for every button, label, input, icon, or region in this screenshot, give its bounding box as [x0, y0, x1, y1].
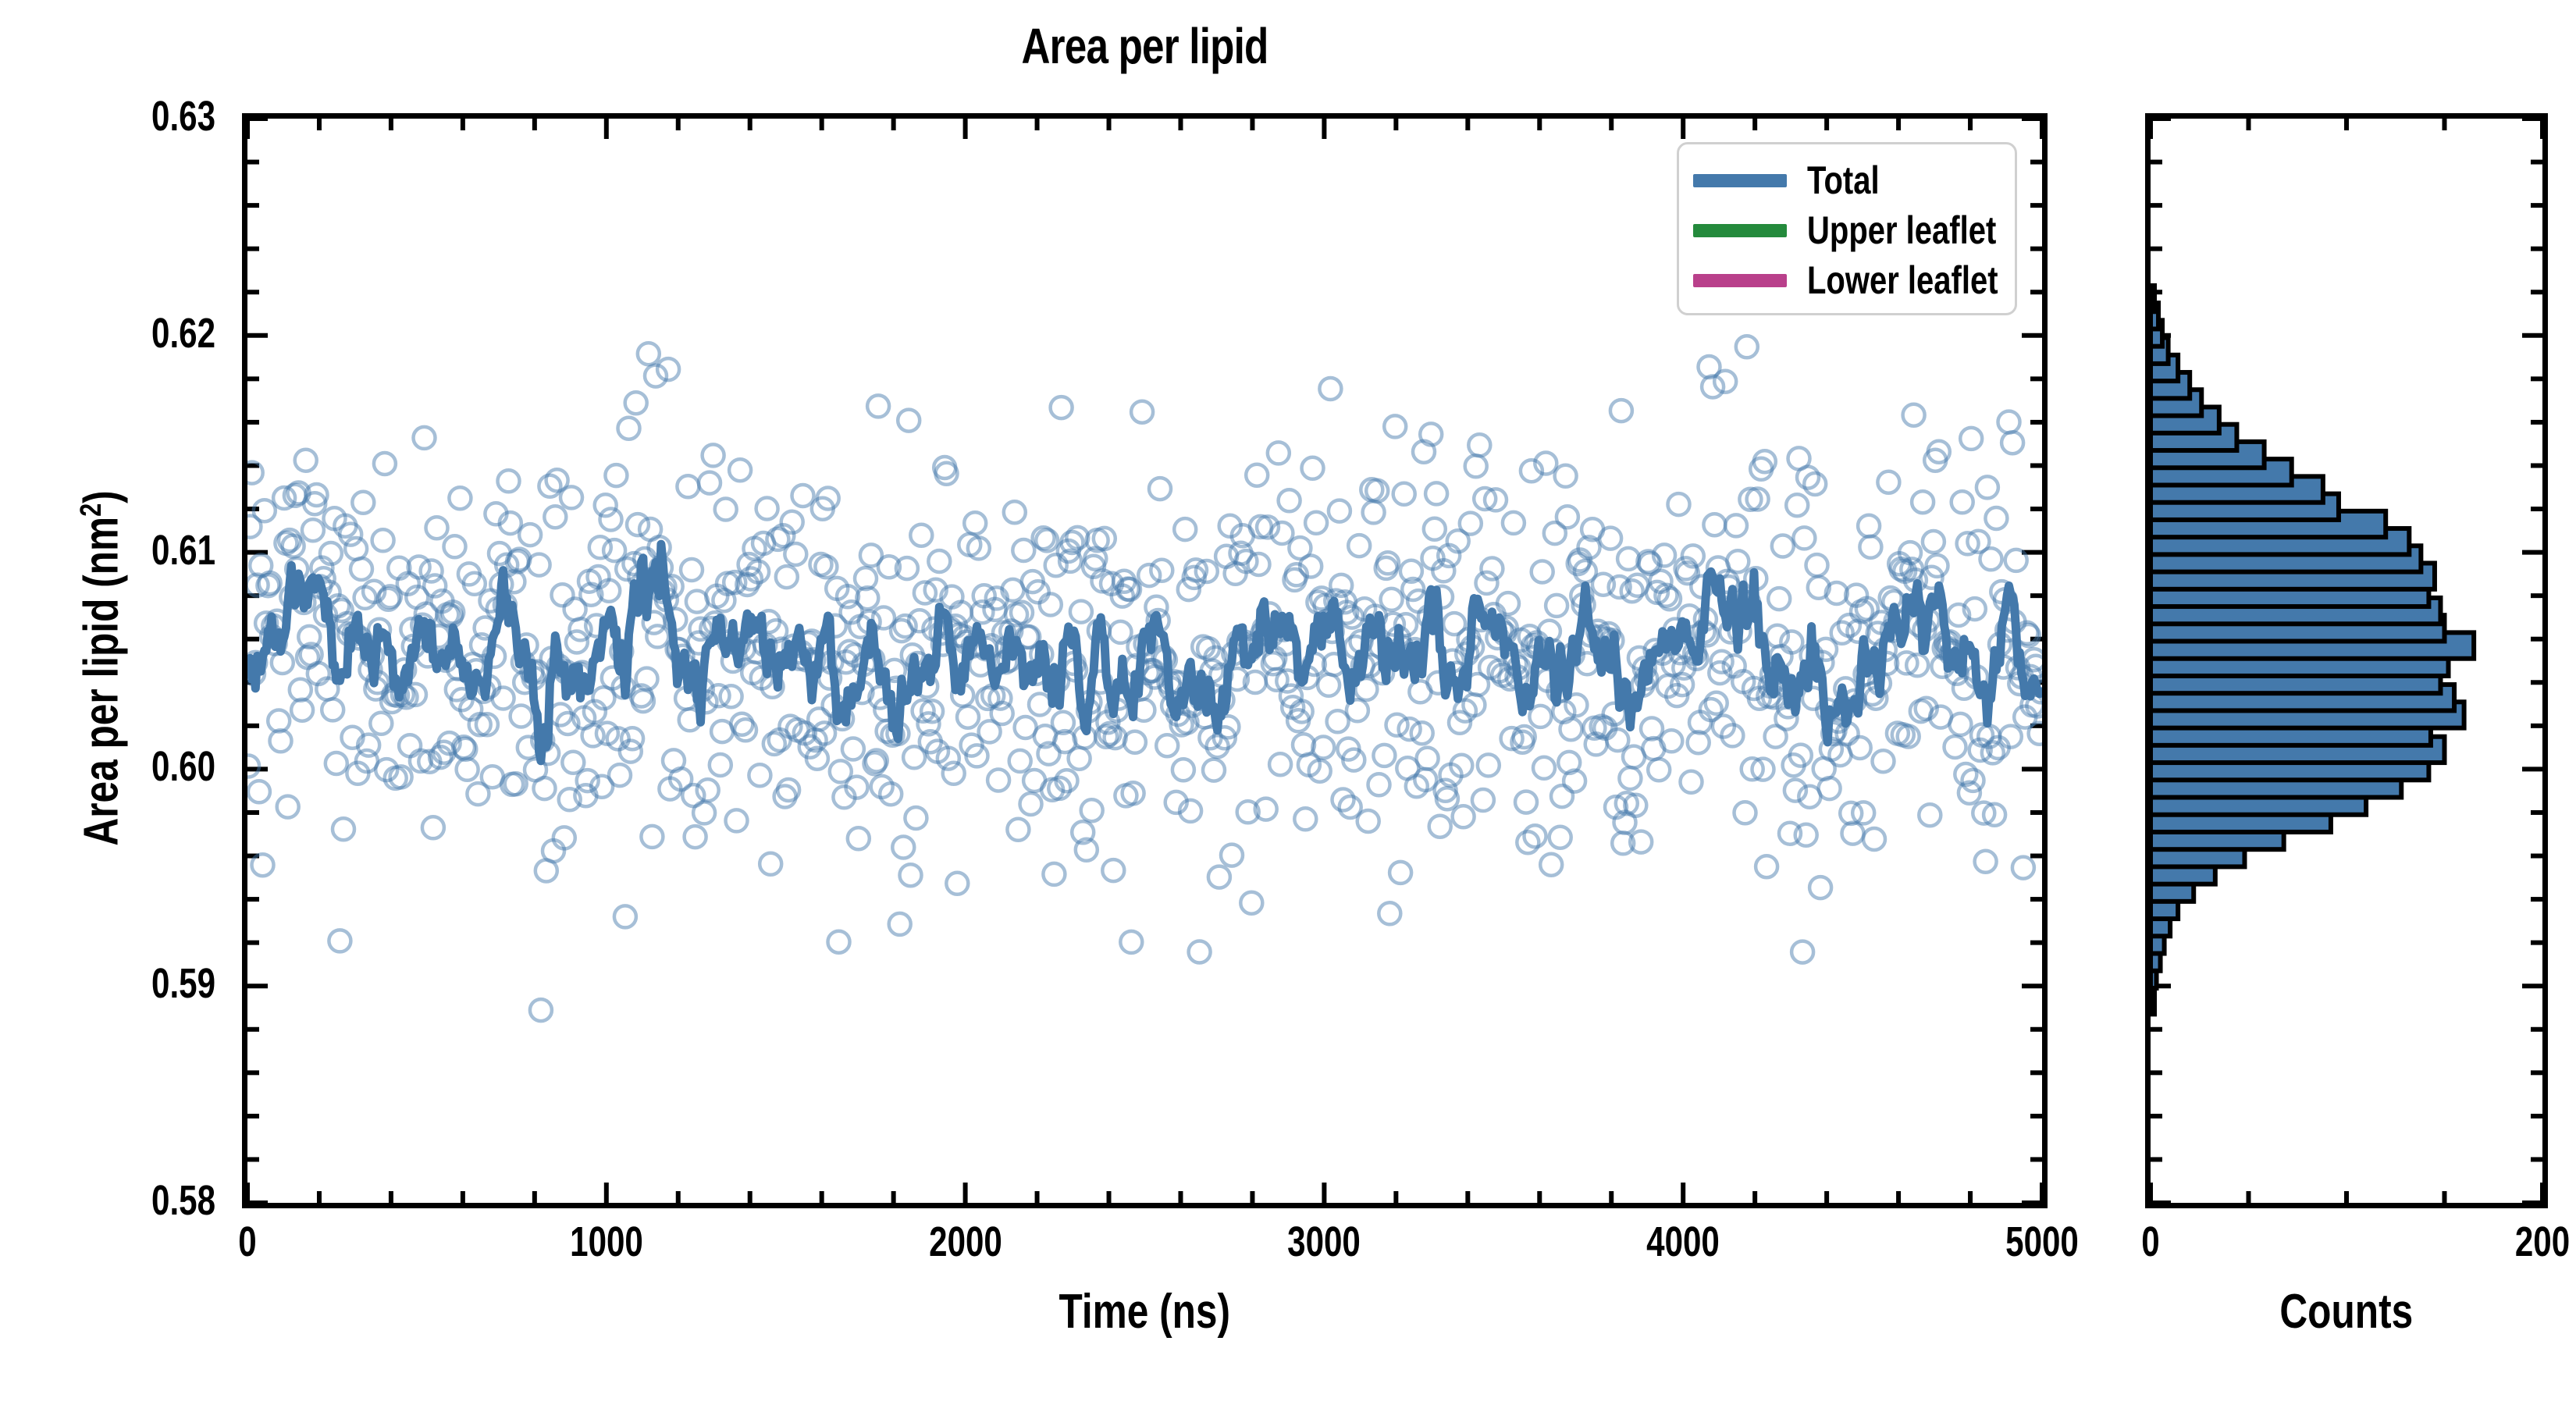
histogram-bars — [2151, 286, 2474, 1014]
x-tick-label: 0 — [126, 1218, 369, 1266]
legend-swatch-total — [1693, 174, 1787, 187]
y-axis-label-text: Area per lipid (nm2) — [74, 490, 130, 845]
legend-item-lower-leaflet[interactable]: Lower leaflet — [1693, 255, 2001, 305]
histogram-x-tick-label: 200 — [2421, 1218, 2576, 1266]
chart-title: Area per lipid — [422, 17, 1866, 75]
histogram-x-axis-label: Counts — [2145, 1284, 2548, 1339]
legend-label-total: Total — [1807, 158, 1880, 203]
histogram-axes — [2145, 113, 2548, 1208]
legend-item-total[interactable]: Total — [1693, 155, 2001, 205]
legend[interactable]: Total Upper leaflet Lower leaflet — [1677, 142, 2017, 315]
x-axis-label: Time (ns) — [242, 1284, 2048, 1339]
histogram-x-tick-label: 0 — [2029, 1218, 2272, 1266]
legend-item-upper-leaflet[interactable]: Upper leaflet — [1693, 205, 2001, 255]
x-tick-label: 2000 — [844, 1218, 1087, 1266]
legend-swatch-upper-leaflet — [1693, 224, 1787, 237]
histogram-svg — [2151, 119, 2542, 1203]
y-axis-label: Area per lipid (nm2) — [74, 122, 130, 1215]
x-axis-label-text: Time (ns) — [1059, 1284, 1231, 1339]
legend-label-lower-leaflet: Lower leaflet — [1807, 258, 1998, 303]
x-tick-label: 4000 — [1561, 1218, 1805, 1266]
x-tick-label: 1000 — [485, 1218, 728, 1266]
legend-label-upper-leaflet: Upper leaflet — [1807, 208, 1996, 253]
x-tick-label: 3000 — [1202, 1218, 1446, 1266]
histogram-x-axis-label-text: Counts — [2280, 1284, 2414, 1339]
legend-swatch-lower-leaflet — [1693, 274, 1787, 287]
figure: Area per lipid 0.580.590.600.610.620.63 … — [0, 0, 2576, 1405]
